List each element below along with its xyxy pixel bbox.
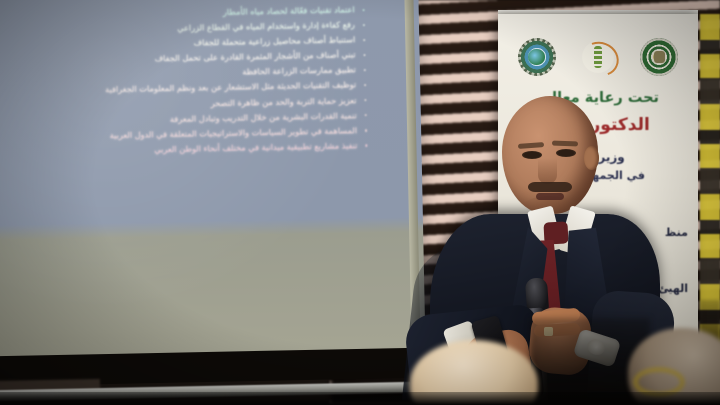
speaker-mouth [536,193,564,200]
speaker-eye-right [556,149,576,157]
speaker-mustache [528,182,572,192]
speaker-ear [584,146,599,170]
foreground-bottom-shadow [0,392,720,405]
speaker-nose [538,158,557,184]
banner-logo-row [498,32,698,82]
slide-bullet-list: اعتماد تقنيات فعّالة لحصاد مياه الأمطار … [0,2,371,161]
photo-scene: اعتماد تقنيات فعّالة لحصاد مياه الأمطار … [0,0,720,405]
speaker-eyebrow-right [552,141,578,147]
gear-globe-emblem-logo [518,38,556,76]
wheat-crescent-logo [579,38,617,76]
yellow-black-striped-banner [700,14,720,344]
arab-league-emblem-logo [640,38,678,76]
